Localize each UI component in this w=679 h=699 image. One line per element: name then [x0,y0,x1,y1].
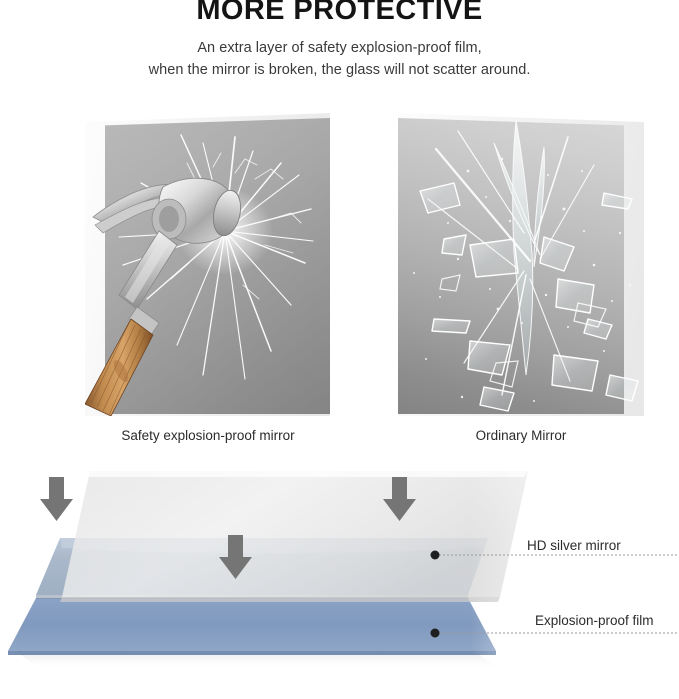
caption-ordinary-mirror: Ordinary Mirror [398,428,644,443]
page-title: MORE PROTECTIVE [0,0,679,27]
product-infographic: MORE PROTECTIVE An extra layer of safety… [0,0,679,699]
hammer-icon [85,113,330,416]
layer-diagram [0,455,679,699]
label-hd-silver-mirror: HD silver mirror [527,538,621,553]
ordinary-mirror-photo [398,113,644,416]
label-explosion-proof-film: Explosion-proof film [535,613,654,628]
subtitle-line-1: An extra layer of safety explosion-proof… [0,40,679,56]
safety-mirror-photo [85,113,330,416]
subtitle-line-2: when the mirror is broken, the glass wil… [0,62,679,78]
caption-safety-mirror: Safety explosion-proof mirror [85,428,331,443]
shattered-glass-icon [398,113,644,416]
